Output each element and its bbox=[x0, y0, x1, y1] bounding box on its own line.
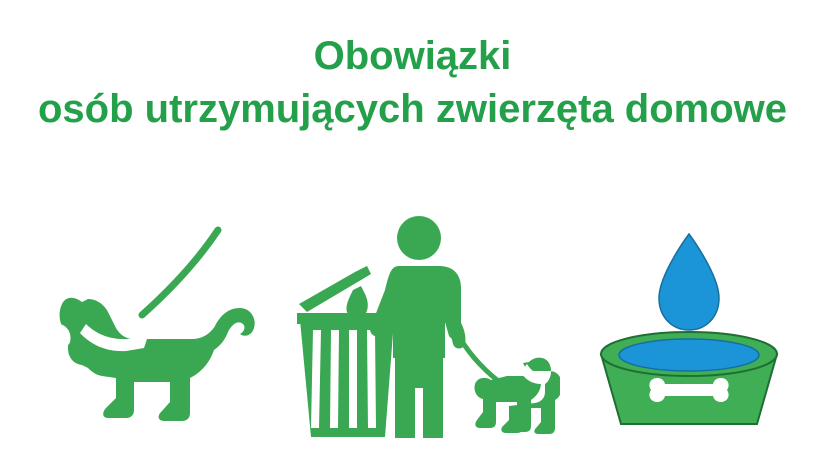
title-line-2: osób utrzymujących zwierzęta domowe bbox=[0, 82, 825, 136]
bowl-group bbox=[601, 332, 777, 424]
waste-bag bbox=[346, 286, 367, 318]
dog-on-leash-icon bbox=[30, 212, 290, 452]
trash-bin-group bbox=[297, 266, 397, 437]
dog-silhouette bbox=[60, 298, 255, 421]
poster-canvas: Obowiązki osób utrzymujących zwierzęta d… bbox=[0, 0, 825, 462]
icon-row bbox=[0, 212, 825, 452]
dog-body-group bbox=[54, 230, 255, 421]
title-line-1: Obowiązki bbox=[0, 30, 825, 82]
person-legs bbox=[395, 354, 443, 438]
leash-line bbox=[142, 230, 218, 315]
waste-disposal-walking-icon bbox=[295, 212, 560, 452]
poster-title: Obowiązki osób utrzymujących zwierzęta d… bbox=[0, 30, 825, 136]
water-bowl-icon bbox=[585, 212, 815, 452]
bowl-water-surface bbox=[619, 339, 759, 371]
water-drop bbox=[659, 234, 719, 330]
person-head bbox=[397, 216, 441, 260]
